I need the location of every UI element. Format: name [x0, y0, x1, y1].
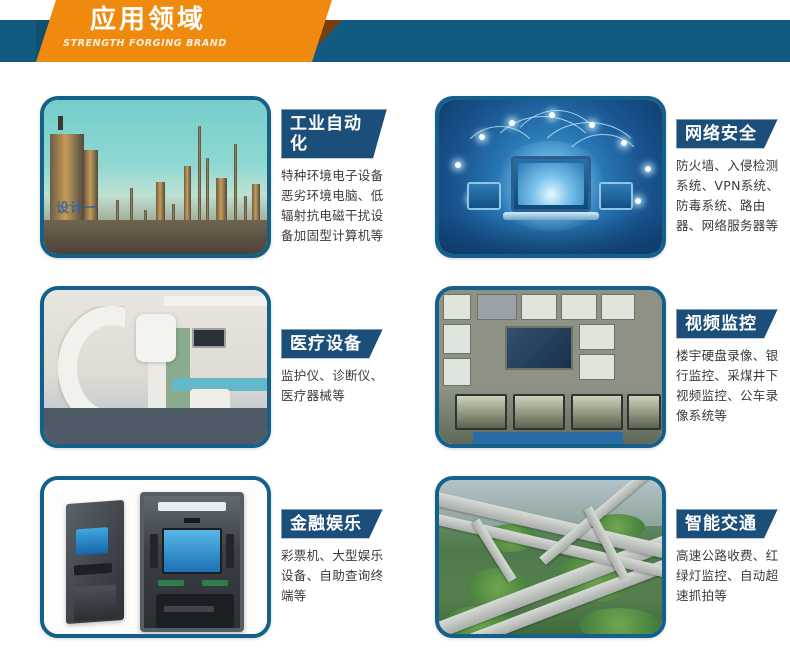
card-intelligent-transport[interactable]: 智能交通 高速公路收费、红绿灯监控、自动超速抓拍等 — [395, 462, 790, 652]
card-row-2: 医疗设备 监护仪、诊断仪、医疗器械等 — [0, 272, 790, 462]
card-network-security[interactable]: 网络安全 防火墙、入侵检测系统、VPN系统、防毒系统、路由器、网络服务器等 — [395, 82, 790, 272]
card-text-block: 工业自动化 特种环境电子设备恶劣环境电脑、低辐射抗电磁干扰设备加固型计算机等 — [271, 109, 395, 246]
card-text-block: 视频监控 楼宇硬盘录像、银行监控、采煤井下视频监控、公车录像系统等 — [666, 309, 790, 426]
card-text-block: 医疗设备 监护仪、诊断仪、医疗器械等 — [271, 329, 395, 406]
card-industrial-automation[interactable]: 设计一 工业自动化 特种环境电子设备恶劣环境电脑、低辐射抗电磁干扰设备加固型计算… — [0, 82, 395, 272]
card-description: 防火墙、入侵检测系统、VPN系统、防毒系统、路由器、网络服务器等 — [676, 156, 782, 236]
card-title: 工业自动化 — [281, 109, 387, 159]
card-row-3: 金融娱乐 彩票机、大型娱乐设备、自助查询终端等 — [0, 462, 790, 652]
image-watermark: 设计一 — [56, 197, 98, 216]
card-description: 监护仪、诊断仪、医疗器械等 — [281, 366, 387, 406]
card-title: 金融娱乐 — [281, 509, 383, 539]
page-title: 应用领域 — [0, 4, 296, 36]
card-text-block: 智能交通 高速公路收费、红绿灯监控、自动超速抓拍等 — [666, 509, 790, 606]
card-title: 医疗设备 — [281, 329, 383, 359]
page-header: 应用领域 STRENGTH FORGING BRAND — [0, 0, 790, 68]
card-title: 视频监控 — [676, 309, 778, 339]
industrial-refinery-photo: 设计一 — [40, 96, 271, 258]
medical-equipment-photo — [40, 286, 271, 448]
card-finance-entertainment[interactable]: 金融娱乐 彩票机、大型娱乐设备、自助查询终端等 — [0, 462, 395, 652]
card-medical-equipment[interactable]: 医疗设备 监护仪、诊断仪、医疗器械等 — [0, 272, 395, 462]
card-description: 高速公路收费、红绿灯监控、自动超速抓拍等 — [676, 546, 782, 606]
card-description: 楼宇硬盘录像、银行监控、采煤井下视频监控、公车录像系统等 — [676, 346, 782, 426]
highway-interchange-photo — [435, 476, 666, 638]
card-video-surveillance[interactable]: 视频监控 楼宇硬盘录像、银行监控、采煤井下视频监控、公车录像系统等 — [395, 272, 790, 462]
page-subtitle: STRENGTH FORGING BRAND — [0, 38, 290, 50]
card-row-1: 设计一 工业自动化 特种环境电子设备恶劣环境电脑、低辐射抗电磁干扰设备加固型计算… — [0, 82, 790, 272]
card-description: 特种环境电子设备恶劣环境电脑、低辐射抗电磁干扰设备加固型计算机等 — [281, 166, 387, 246]
card-title: 智能交通 — [676, 509, 778, 539]
atm-kiosk-photo — [40, 476, 271, 638]
application-fields-grid: 设计一 工业自动化 特种环境电子设备恶劣环境电脑、低辐射抗电磁干扰设备加固型计算… — [0, 68, 790, 660]
network-security-photo — [435, 96, 666, 258]
card-text-block: 金融娱乐 彩票机、大型娱乐设备、自助查询终端等 — [271, 509, 395, 606]
video-surveillance-photo — [435, 286, 666, 448]
card-text-block: 网络安全 防火墙、入侵检测系统、VPN系统、防毒系统、路由器、网络服务器等 — [666, 119, 790, 236]
card-description: 彩票机、大型娱乐设备、自助查询终端等 — [281, 546, 387, 606]
card-title: 网络安全 — [676, 119, 778, 149]
